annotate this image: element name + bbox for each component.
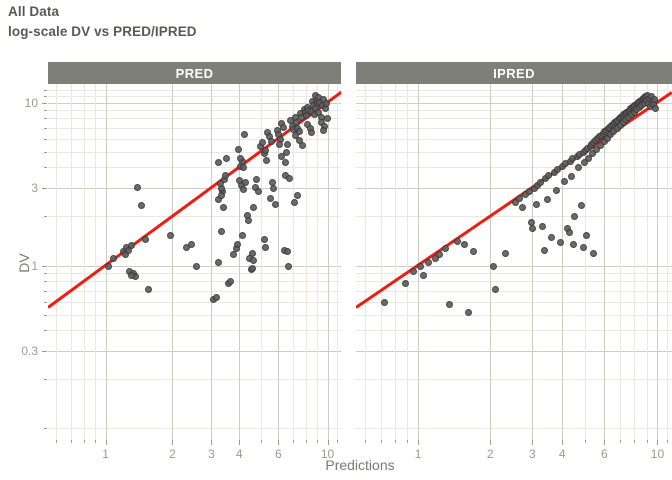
gridline-vertical	[239, 84, 240, 440]
data-point	[294, 192, 301, 199]
data-point	[145, 286, 152, 293]
x-axis-tick	[418, 440, 419, 445]
x-axis-tick	[604, 440, 605, 445]
data-point	[223, 155, 230, 162]
data-point	[215, 259, 222, 266]
data-point	[250, 204, 257, 211]
gridline-horizontal	[356, 302, 672, 303]
gridline-vertical	[337, 84, 338, 440]
gridline-horizontal	[356, 266, 672, 267]
gridline-horizontal	[356, 103, 672, 104]
x-axis-minor-tick	[56, 440, 57, 443]
x-axis-minor-tick	[647, 440, 648, 443]
data-point	[402, 280, 409, 287]
data-point	[213, 294, 220, 301]
x-axis-tick-label: 6	[601, 447, 608, 461]
gridline-horizontal	[356, 152, 672, 153]
gridline-vertical	[365, 84, 366, 440]
x-axis-tick-label: 3	[208, 447, 215, 461]
data-point	[454, 238, 461, 245]
data-point	[320, 127, 327, 134]
y-axis-minor-tick	[44, 139, 47, 140]
data-point	[218, 228, 225, 235]
gridline-vertical	[211, 84, 212, 440]
x-axis-tick-label: 4	[236, 447, 243, 461]
gridline-horizontal	[48, 428, 341, 429]
x-axis-tick	[278, 440, 279, 445]
x-axis-minor-tick	[95, 440, 96, 443]
data-point	[128, 272, 135, 279]
x-axis-tick-label: 6	[275, 447, 282, 461]
x-axis-minor-tick	[407, 440, 408, 443]
data-point	[272, 201, 279, 208]
x-axis-tick-label: 2	[169, 447, 176, 461]
data-point	[110, 255, 117, 262]
gridline-vertical	[95, 84, 96, 440]
y-axis-minor-tick	[44, 118, 47, 119]
y-axis-minor-tick	[44, 216, 47, 217]
gridline-vertical	[667, 84, 668, 440]
data-point	[222, 172, 229, 179]
page-title: All Data	[8, 4, 59, 19]
data-point	[324, 115, 331, 122]
x-axis-minor-tick	[84, 440, 85, 443]
data-point	[436, 251, 443, 258]
gridline-vertical	[395, 84, 396, 440]
x-axis-title: Predictions	[48, 457, 672, 473]
data-point	[575, 164, 582, 171]
gridline-horizontal	[48, 90, 341, 91]
data-point	[285, 263, 292, 270]
gridline-horizontal	[48, 330, 341, 331]
gridline-vertical	[620, 84, 621, 440]
gridline-horizontal	[356, 139, 672, 140]
gridline-vertical	[261, 84, 262, 440]
y-axis-minor-tick	[44, 281, 47, 282]
y-axis-tick-label: 3	[0, 181, 38, 195]
data-point	[568, 173, 575, 180]
data-point	[580, 244, 587, 251]
x-axis-tick	[328, 440, 329, 445]
data-point	[284, 248, 291, 255]
data-point	[590, 250, 597, 257]
data-point	[105, 263, 112, 270]
data-point	[308, 129, 315, 136]
gridline-vertical	[585, 84, 586, 440]
gridline-vertical	[56, 84, 57, 440]
gridline-horizontal	[48, 188, 341, 189]
data-point	[239, 232, 246, 239]
page-subtitle: log-scale DV vs PRED/IPRED	[8, 24, 197, 39]
y-axis-minor-tick	[44, 330, 47, 331]
x-axis-tick-label: 4	[559, 447, 566, 461]
x-axis-minor-tick	[293, 440, 294, 443]
y-axis-tick-label: 0.3	[0, 344, 38, 358]
gridline-horizontal	[48, 291, 341, 292]
data-point	[230, 251, 237, 258]
gridline-horizontal	[48, 167, 341, 168]
gridline-vertical	[647, 84, 648, 440]
data-point	[291, 199, 298, 206]
gridline-vertical	[562, 84, 563, 440]
gridline-horizontal	[48, 103, 341, 104]
gridline-horizontal	[48, 302, 341, 303]
x-axis-minor-tick	[365, 440, 366, 443]
x-axis-minor-tick	[620, 440, 621, 443]
data-point	[270, 185, 277, 192]
data-point	[282, 159, 289, 166]
data-point	[296, 128, 303, 135]
data-point	[240, 164, 247, 171]
y-axis-tick	[42, 188, 47, 189]
x-axis-tick-label: 2	[487, 447, 494, 461]
gridline-horizontal	[356, 351, 672, 352]
gridline-horizontal	[48, 281, 341, 282]
gridline-horizontal	[356, 315, 672, 316]
data-point	[193, 263, 200, 270]
data-point	[241, 131, 248, 138]
gridline-horizontal	[48, 379, 341, 380]
x-axis-tick	[562, 440, 563, 445]
data-point	[553, 187, 560, 194]
x-axis-minor-tick	[337, 440, 338, 443]
data-point	[490, 263, 497, 270]
data-point	[539, 223, 546, 230]
data-point	[237, 155, 244, 162]
data-point	[381, 299, 388, 306]
data-point	[167, 232, 174, 239]
x-axis-tick-label: 10	[651, 447, 664, 461]
data-point	[461, 241, 468, 248]
data-point	[220, 204, 227, 211]
facet-strip-ipred: IPRED	[356, 62, 672, 84]
data-point	[249, 265, 256, 272]
x-axis-tick-label: 1	[102, 447, 109, 461]
data-point	[519, 204, 526, 211]
data-point	[502, 250, 509, 257]
gridline-vertical	[317, 84, 318, 440]
data-point	[544, 196, 551, 203]
data-point	[215, 159, 222, 166]
y-axis-tick-label: 10	[0, 96, 38, 110]
data-point	[410, 268, 417, 275]
data-point	[138, 202, 145, 209]
x-axis-minor-tick	[634, 440, 635, 443]
y-axis-minor-tick	[44, 302, 47, 303]
data-point	[128, 242, 135, 249]
gridline-vertical	[84, 84, 85, 440]
gridline-vertical	[328, 84, 329, 440]
data-point	[235, 146, 242, 153]
x-axis-tick	[106, 440, 107, 445]
x-axis-tick-label: 3	[529, 447, 536, 461]
gridline-horizontal	[48, 96, 341, 97]
x-axis-tick	[490, 440, 491, 445]
data-point	[261, 236, 268, 243]
x-axis-minor-tick	[71, 440, 72, 443]
data-point	[262, 244, 269, 251]
gridline-vertical	[306, 84, 307, 440]
x-axis-tick	[657, 440, 658, 445]
gridline-vertical	[407, 84, 408, 440]
data-point	[529, 225, 536, 232]
gridline-vertical	[71, 84, 72, 440]
y-axis-minor-tick	[44, 428, 47, 429]
data-point	[570, 241, 577, 248]
x-axis-minor-tick	[317, 440, 318, 443]
data-point	[263, 157, 270, 164]
facet-strip-pred: PRED	[48, 62, 341, 84]
y-axis-minor-tick	[44, 315, 47, 316]
data-point	[571, 213, 578, 220]
y-axis-tick	[42, 351, 47, 352]
chart-root: All Data log-scale DV vs PRED/IPRED DV P…	[0, 0, 672, 480]
data-point	[245, 217, 252, 224]
y-axis-minor-tick	[44, 152, 47, 153]
x-axis-tick-label: 1	[415, 447, 422, 461]
gridline-vertical	[657, 84, 658, 440]
gridline-horizontal	[356, 96, 672, 97]
y-axis-minor-tick	[44, 96, 47, 97]
x-axis-minor-tick	[395, 440, 396, 443]
data-point	[134, 184, 141, 191]
data-point	[218, 192, 225, 199]
x-axis-tick	[239, 440, 240, 445]
x-axis-minor-tick	[306, 440, 307, 443]
plot-panel-ipred	[356, 84, 672, 440]
gridline-vertical	[634, 84, 635, 440]
facet-strip-label: PRED	[176, 66, 214, 81]
data-point	[284, 141, 291, 148]
data-point	[262, 147, 269, 154]
gridline-vertical	[381, 84, 382, 440]
data-point	[417, 263, 424, 270]
gridline-vertical	[532, 84, 533, 440]
y-axis-minor-tick	[44, 110, 47, 111]
data-point	[227, 278, 234, 285]
x-axis-tick	[172, 440, 173, 445]
data-point	[259, 139, 266, 146]
gridline-horizontal	[356, 188, 672, 189]
plot-panel-pred	[48, 84, 341, 440]
gridline-horizontal	[356, 330, 672, 331]
y-axis-minor-tick	[44, 273, 47, 274]
x-axis-minor-tick	[261, 440, 262, 443]
gridline-horizontal	[356, 128, 672, 129]
data-point	[492, 286, 499, 293]
gridline-horizontal	[356, 379, 672, 380]
x-axis-minor-tick	[381, 440, 382, 443]
data-point	[557, 239, 564, 246]
x-axis-tick	[532, 440, 533, 445]
data-point	[286, 175, 293, 182]
data-point	[250, 257, 257, 264]
data-point	[268, 138, 275, 145]
gridline-vertical	[490, 84, 491, 440]
data-point	[561, 178, 568, 185]
gridline-vertical	[172, 84, 173, 440]
data-point	[240, 186, 247, 193]
data-point	[280, 124, 287, 131]
data-point	[242, 179, 249, 186]
y-axis-minor-tick	[44, 167, 47, 168]
facet-strip-label: IPRED	[493, 66, 535, 81]
gridline-horizontal	[48, 351, 341, 352]
data-point	[583, 232, 590, 239]
data-point	[548, 234, 555, 241]
data-point	[323, 100, 330, 107]
data-point	[470, 248, 477, 255]
data-point	[276, 141, 283, 148]
gridline-horizontal	[48, 216, 341, 217]
gridline-horizontal	[48, 152, 341, 153]
data-point	[188, 241, 195, 248]
gridline-horizontal	[356, 90, 672, 91]
gridline-horizontal	[356, 216, 672, 217]
data-point	[541, 247, 548, 254]
data-point	[283, 149, 290, 156]
y-axis-tick-label: 1	[0, 259, 38, 273]
y-axis-tick	[42, 103, 47, 104]
gridline-horizontal	[48, 315, 341, 316]
data-point	[253, 176, 260, 183]
y-axis-minor-tick	[44, 128, 47, 129]
x-axis-tick-label: 10	[321, 447, 334, 461]
y-axis-minor-tick	[44, 90, 47, 91]
data-point	[420, 272, 427, 279]
gridline-horizontal	[356, 167, 672, 168]
data-point	[142, 236, 149, 243]
x-axis-minor-tick	[585, 440, 586, 443]
y-axis-minor-tick	[44, 291, 47, 292]
x-axis-minor-tick	[667, 440, 668, 443]
data-point	[566, 229, 573, 236]
data-point	[442, 245, 449, 252]
gridline-horizontal	[356, 428, 672, 429]
x-axis-tick	[211, 440, 212, 445]
y-axis-minor-tick	[44, 379, 47, 380]
y-axis-tick	[42, 266, 47, 267]
data-point	[533, 201, 540, 208]
gridline-horizontal	[356, 291, 672, 292]
data-point	[446, 301, 453, 308]
